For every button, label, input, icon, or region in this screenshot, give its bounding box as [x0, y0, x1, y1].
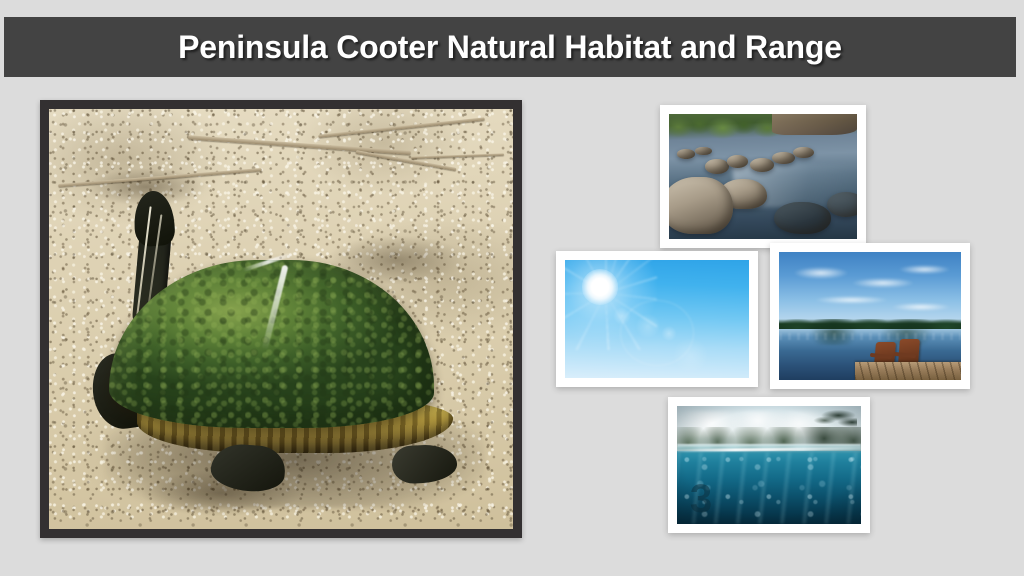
river-stone	[793, 147, 814, 158]
lens-flare	[613, 307, 631, 325]
turtle-photo-frame[interactable]	[40, 100, 522, 538]
photo-frame-calm-lake-dock[interactable]	[770, 243, 970, 389]
cloud	[899, 265, 950, 274]
wooden-dock	[855, 362, 961, 380]
river-stone	[677, 149, 696, 159]
river-stone-submerged	[827, 192, 857, 217]
slide-canvas: Peninsula Cooter Natural Habitat and Ran…	[0, 0, 1024, 576]
cloud	[852, 278, 914, 288]
photo-frame-rocky-river[interactable]	[660, 105, 866, 248]
sun-blue-sky-image	[565, 260, 749, 378]
river-stone	[705, 159, 729, 174]
photo-frame-sun-blue-sky[interactable]	[556, 251, 758, 387]
river-stone-submerged	[774, 202, 830, 235]
lake-sky	[779, 252, 961, 326]
vignette	[677, 406, 861, 524]
underwater-spring-image: 3	[677, 406, 861, 524]
sun-disc	[582, 269, 619, 304]
river-stone	[772, 152, 795, 165]
river-stone	[750, 158, 774, 172]
river-bank-trees	[669, 114, 786, 139]
dock-planks	[855, 362, 961, 380]
calm-lake-dock-image	[779, 252, 961, 380]
rocky-river-image	[669, 114, 857, 239]
cloud	[794, 267, 849, 279]
peninsula-cooter-turtle-image	[49, 109, 513, 529]
river-boulder-large	[669, 177, 733, 235]
water-glint	[779, 333, 961, 341]
photo-frame-underwater-spring[interactable]: 3	[668, 397, 870, 533]
title-bar: Peninsula Cooter Natural Habitat and Ran…	[4, 17, 1016, 77]
page-title: Peninsula Cooter Natural Habitat and Ran…	[178, 29, 842, 66]
river-stone	[727, 155, 748, 168]
river-rock-face	[772, 114, 857, 135]
lens-flare	[672, 338, 709, 373]
lens-flare	[635, 314, 661, 338]
cloud	[892, 303, 950, 311]
